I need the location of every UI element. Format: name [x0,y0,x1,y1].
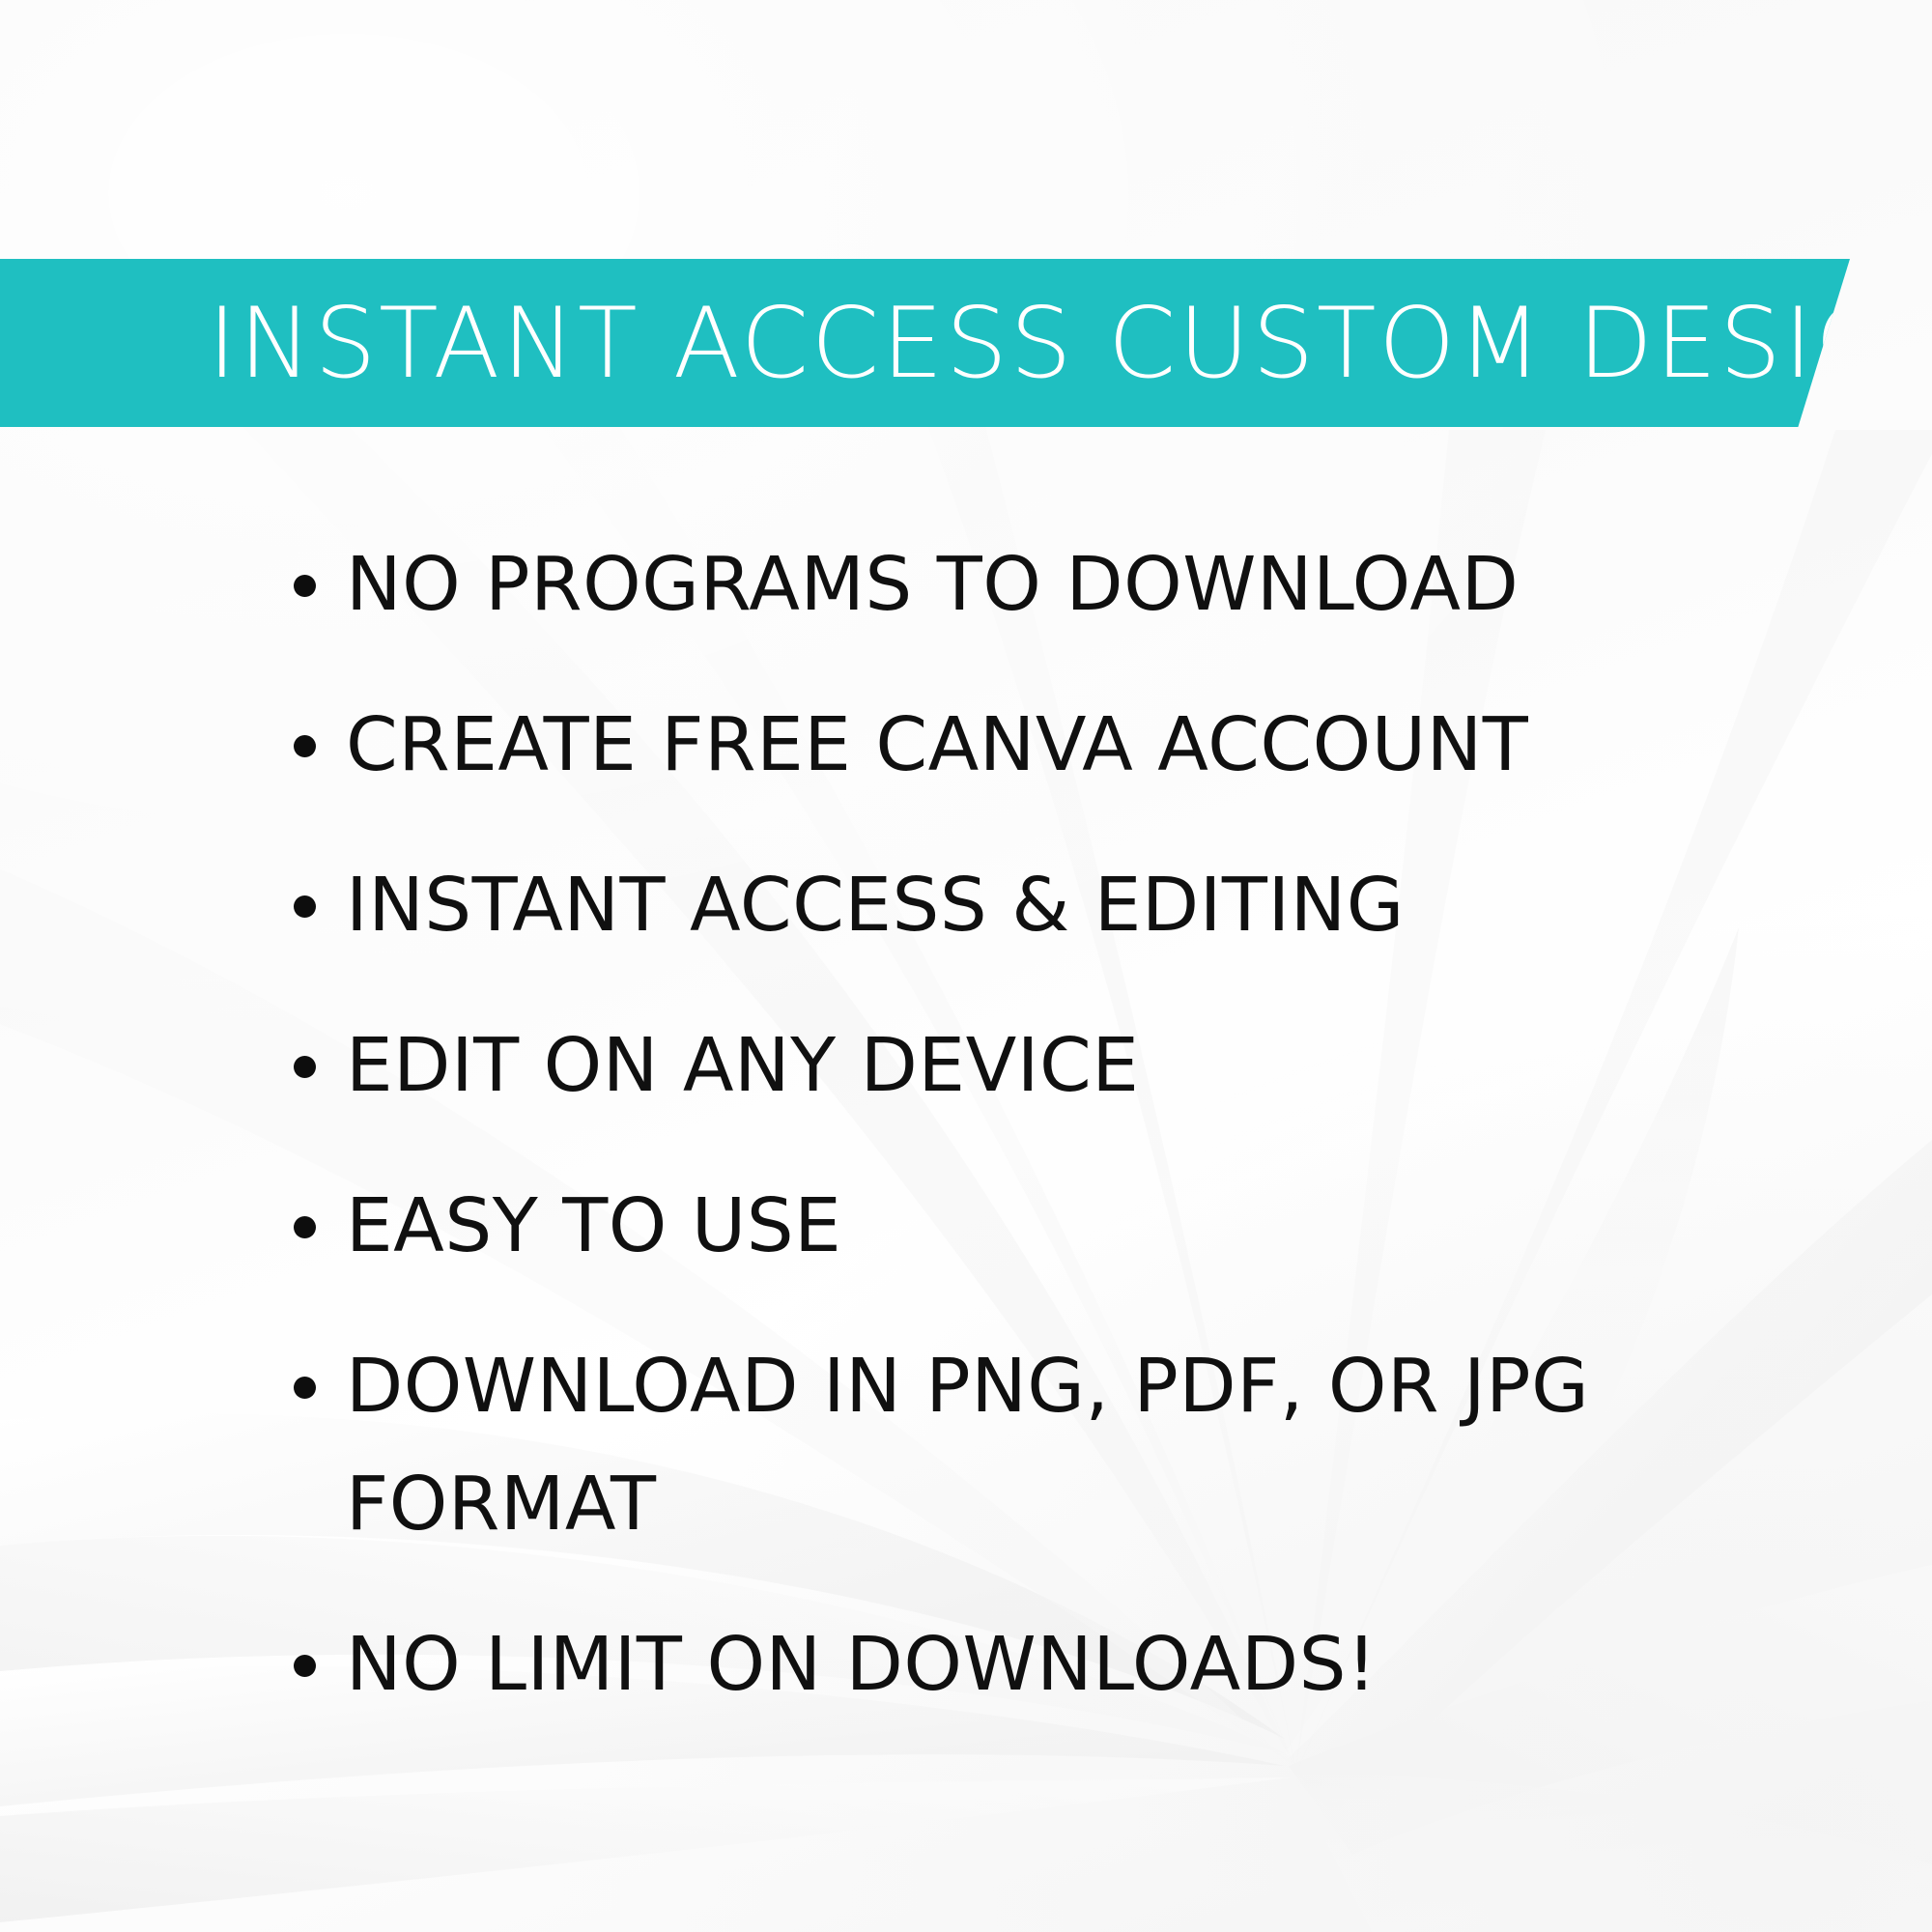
bullet-dot-icon [294,1377,316,1399]
list-item-label: INSTANT ACCESS & EDITING [346,847,1793,965]
list-item-label: NO LIMIT ON DOWNLOADS! [346,1606,1793,1724]
bullet-dot-icon [294,1655,316,1677]
list-item: DOWNLOAD IN PNG, PDF, OR JPG FORMAT [286,1328,1793,1564]
bullet-dot-icon [294,735,316,757]
list-item: EASY TO USE [286,1168,1793,1286]
bullet-dot-icon [294,1216,316,1238]
bullet-dot-icon [294,575,316,597]
list-item-label: EDIT ON ANY DEVICE [346,1008,1793,1125]
bullet-dot-icon [294,1056,316,1078]
list-item-label: DOWNLOAD IN PNG, PDF, OR JPG FORMAT [346,1328,1793,1564]
list-item: NO PROGRAMS TO DOWNLOAD [286,526,1793,644]
poster-canvas: INSTANT ACCESS CUSTOM DESIGNS NO PROGRAM… [0,0,1932,1932]
list-item: CREATE FREE CANVA ACCOUNT [286,687,1793,805]
list-item: INSTANT ACCESS & EDITING [286,847,1793,965]
list-item: NO LIMIT ON DOWNLOADS! [286,1606,1793,1724]
list-item-label: EASY TO USE [346,1168,1793,1286]
list-item-label: CREATE FREE CANVA ACCOUNT [346,687,1793,805]
feature-list: NO PROGRAMS TO DOWNLOAD CREATE FREE CANV… [286,526,1793,1767]
banner-title: INSTANT ACCESS CUSTOM DESIGNS [208,295,1932,392]
list-item: EDIT ON ANY DEVICE [286,1008,1793,1125]
list-item-label: NO PROGRAMS TO DOWNLOAD [346,526,1793,644]
headline-banner: INSTANT ACCESS CUSTOM DESIGNS [0,259,1850,427]
bullet-dot-icon [294,895,316,918]
